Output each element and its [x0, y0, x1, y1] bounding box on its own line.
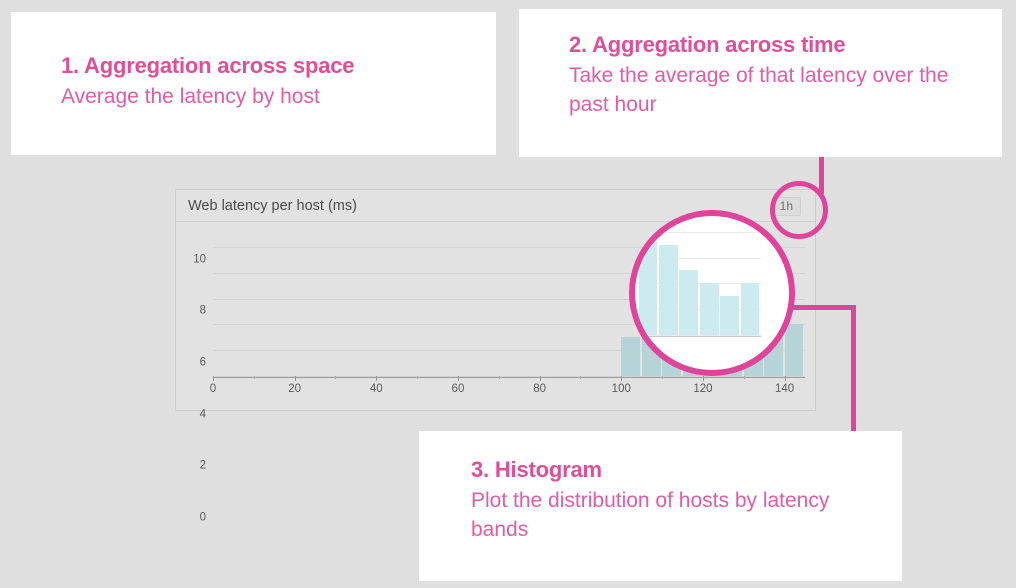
y-axis-tick-label: 10	[193, 254, 206, 266]
histogram-bar[interactable]	[785, 324, 804, 376]
x-axis-tick-label: 80	[533, 384, 546, 396]
x-axis-tick-mark	[540, 376, 541, 381]
x-axis-tick-mark	[785, 376, 786, 381]
y-axis-tick-label: 0	[200, 512, 206, 524]
x-axis-tick-label: 120	[693, 384, 712, 396]
callout-2-body: Take the average of that latency over th…	[569, 62, 952, 120]
connector-line-callout-3-horizontal	[793, 305, 856, 310]
x-axis-minor-tick-mark	[335, 376, 336, 379]
connector-line-callout-2	[819, 152, 824, 194]
histogram-bar[interactable]	[639, 210, 658, 335]
x-axis-minor-tick-mark	[417, 376, 418, 379]
histogram-bar[interactable]	[679, 270, 698, 335]
callout-1-body: Average the latency by host	[61, 83, 446, 112]
time-range-highlight-circle	[770, 181, 828, 239]
callout-card-aggregation-space: 1. Aggregation across space Average the …	[11, 12, 496, 155]
x-axis-tick-label: 140	[775, 384, 794, 396]
x-axis-minor-tick-mark	[662, 376, 663, 379]
x-axis-tick-mark	[621, 376, 622, 381]
histogram-bar[interactable]	[741, 283, 760, 335]
callout-2-title: 2. Aggregation across time	[569, 31, 952, 60]
x-axis-tick-label: 0	[210, 384, 216, 396]
x-axis-tick-mark	[295, 376, 296, 381]
y-axis-tick-label: 6	[200, 357, 206, 369]
magnifier-plot-copy	[629, 210, 761, 335]
gridline-y-0: 0	[213, 376, 805, 377]
callout-1-title: 1. Aggregation across space	[61, 52, 446, 81]
histogram-bar[interactable]	[659, 245, 678, 335]
x-axis-minor-tick-mark	[254, 376, 255, 379]
x-axis-tick-label: 100	[612, 384, 631, 396]
callout-3-body: Plot the distribution of hosts by latenc…	[471, 487, 852, 545]
x-axis-minor-tick-mark	[744, 376, 745, 379]
histogram-bar[interactable]	[720, 296, 739, 335]
x-axis-minor-tick-mark	[499, 376, 500, 379]
x-axis-tick-mark	[458, 376, 459, 381]
x-axis-tick-mark	[376, 376, 377, 381]
x-axis-tick-mark	[703, 376, 704, 381]
callout-3-title: 3. Histogram	[471, 456, 852, 485]
x-axis-minor-tick-mark	[580, 376, 581, 379]
chart-title: Web latency per host (ms)	[188, 198, 357, 214]
y-axis-tick-label: 2	[200, 461, 206, 473]
histogram-bar[interactable]	[700, 283, 719, 335]
x-axis-tick-label: 40	[370, 384, 383, 396]
y-axis-tick-label: 4	[200, 409, 206, 421]
x-axis-tick-label: 20	[288, 384, 301, 396]
magnifier-lens	[629, 210, 795, 376]
histogram-bar[interactable]	[621, 337, 640, 376]
x-axis-tick-mark	[213, 376, 214, 381]
callout-card-histogram: 3. Histogram Plot the distribution of ho…	[419, 431, 902, 581]
callout-card-aggregation-time: 2. Aggregation across time Take the aver…	[519, 9, 1002, 157]
x-axis-tick-label: 60	[452, 384, 465, 396]
gridline-y-0	[629, 335, 761, 336]
y-axis-tick-label: 8	[200, 306, 206, 318]
